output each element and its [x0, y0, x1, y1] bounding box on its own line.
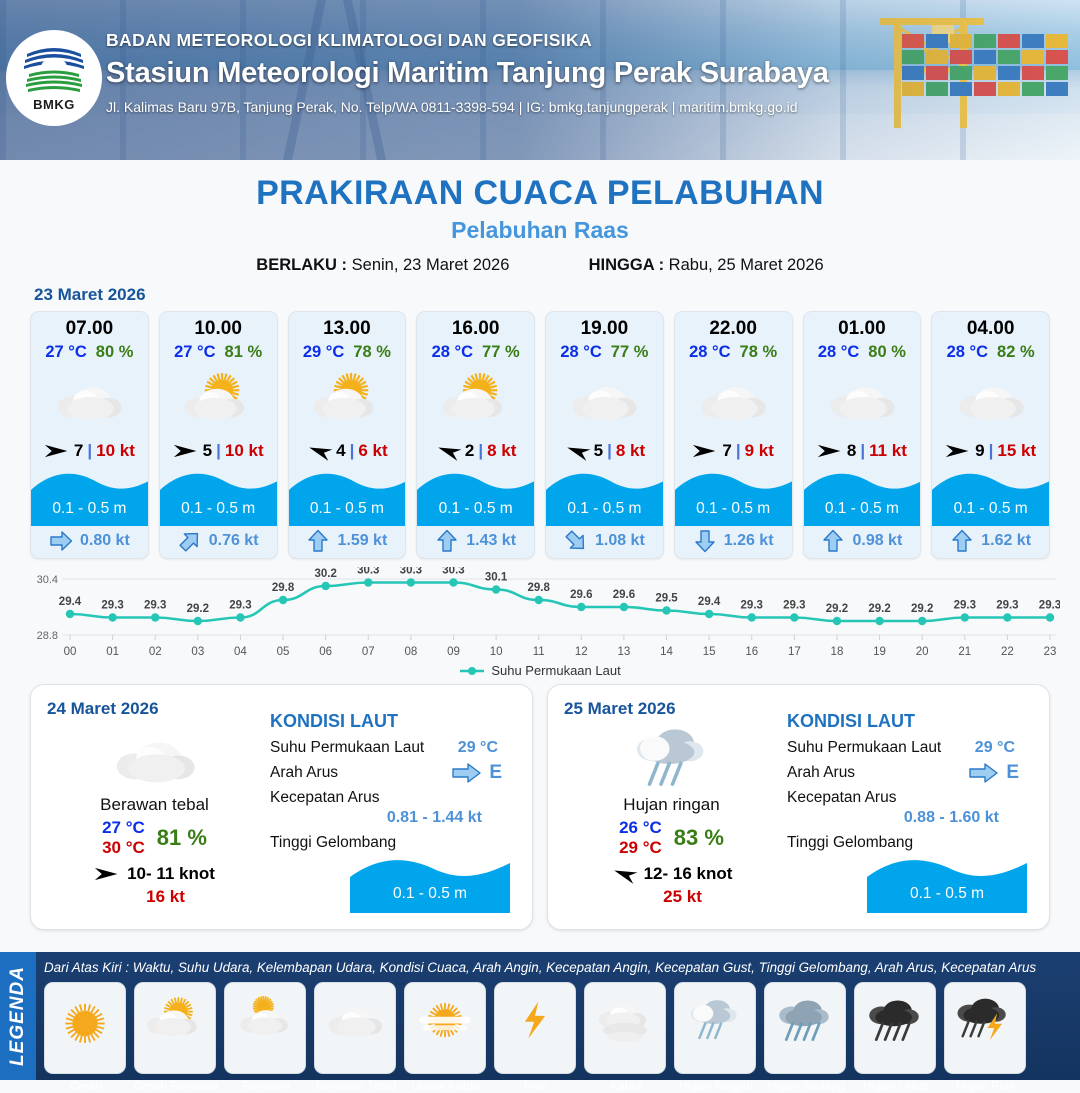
hourly-card[interactable]: 07.00 27 °C 80 % 7 | 10 kt 0.1 - 0.5 m	[30, 311, 149, 559]
daily-temp-max: 30 °C	[102, 838, 145, 858]
daily-forecast-panel[interactable]: 25 Maret 2026 Hujan ringan 26 °C 29 °C 8…	[547, 684, 1050, 930]
card-gust: 9 kt	[745, 441, 774, 461]
card-wave-block: 0.1 - 0.5 m	[932, 468, 1049, 526]
svg-text:01: 01	[106, 646, 119, 658]
card-time: 01.00	[804, 312, 921, 340]
svg-text:29.3: 29.3	[229, 600, 251, 612]
card-gust: 10 kt	[96, 441, 135, 461]
wind-direction-icon	[817, 442, 843, 460]
legend-item-label: Hujan Lebat	[849, 1079, 943, 1093]
card-weather-icon	[675, 362, 792, 434]
card-weather-icon	[289, 362, 406, 434]
daily-wave-block: 0.1 - 0.5 m	[867, 851, 1027, 913]
card-separator: |	[736, 441, 741, 461]
wind-direction-icon	[692, 442, 718, 460]
legend-item-icon	[234, 983, 296, 1053]
svg-text:29.4: 29.4	[698, 596, 721, 608]
card-current-speed: 1.08 kt	[595, 532, 645, 550]
card-wave-block: 0.1 - 0.5 m	[675, 468, 792, 526]
current-direction-value-group: E	[452, 762, 502, 784]
svg-text:12: 12	[575, 646, 588, 658]
card-wind-row: 5 | 10 kt	[160, 434, 277, 468]
hourly-card[interactable]: 13.00 29 °C 78 % 4 | 6 kt 0.1 - 0.5 m	[288, 311, 407, 559]
sst-chart-svg: 30.428.800010203040506070809101112131415…	[20, 567, 1060, 667]
card-wave-height: 0.1 - 0.5 m	[31, 500, 148, 518]
daily-date: 24 Maret 2026	[47, 699, 262, 719]
legend-section: LEGENDA Dari Atas Kiri : Waktu, Suhu Uda…	[0, 952, 1080, 1080]
card-wave-height: 0.1 - 0.5 m	[546, 500, 663, 518]
card-separator: |	[216, 441, 221, 461]
cerah-berawan-icon	[310, 368, 384, 429]
legend-item: Berawan Tebal	[314, 982, 396, 1074]
daily-wave-block: 0.1 - 0.5 m	[350, 851, 510, 913]
card-temp-humidity: 29 °C 78 %	[289, 343, 406, 362]
card-gust: 15 kt	[997, 441, 1036, 461]
berawan-icon	[234, 993, 296, 1044]
legend-item: Hujan Lebat	[854, 982, 936, 1074]
daily-temp-range: 27 °C 30 °C	[102, 818, 145, 857]
berawan-tebal-icon	[954, 368, 1028, 429]
hujan-petir-icon	[954, 993, 1016, 1044]
card-wave-block: 0.1 - 0.5 m	[417, 468, 534, 526]
card-wave-height: 0.1 - 0.5 m	[289, 500, 406, 518]
card-separator: |	[350, 441, 355, 461]
svg-text:30.2: 30.2	[314, 568, 336, 580]
sst-value: 29 °C	[458, 739, 498, 757]
card-wind-row: 5 | 8 kt	[546, 434, 663, 468]
down-right-arrow-icon	[559, 524, 593, 558]
card-separator: |	[478, 441, 483, 461]
page-title: PRAKIRAAN CUACA PELABUHAN	[0, 174, 1080, 213]
contact-info: Jl. Kalimas Baru 97B, Tanjung Perak, No.…	[106, 99, 1066, 115]
svg-text:20: 20	[916, 646, 929, 658]
card-temp-humidity: 28 °C 78 %	[675, 343, 792, 362]
svg-text:23: 23	[1044, 646, 1057, 658]
header-text-block: BADAN METEOROLOGI KLIMATOLOGI DAN GEOFIS…	[106, 30, 1066, 115]
svg-text:17: 17	[788, 646, 801, 658]
legend-item-icon	[954, 983, 1016, 1053]
current-speed-row: Kecepatan Arus 0.88 - 1.60 kt	[787, 789, 1033, 827]
svg-text:29.3: 29.3	[741, 600, 763, 612]
legend-item: Udara Kabur	[404, 982, 486, 1074]
sst-label: Suhu Permukaan Laut	[270, 739, 424, 756]
card-wind-direction: 5	[203, 441, 212, 461]
card-wind-direction: 4	[336, 441, 345, 461]
sst-chart: 30.428.800010203040506070809101112131415…	[0, 559, 1080, 678]
current-direction-row: Arah Arus E	[787, 764, 1033, 782]
card-humidity: 77 %	[611, 343, 649, 362]
svg-text:06: 06	[319, 646, 332, 658]
daily-condition: Berawan tebal	[47, 795, 262, 815]
card-time: 04.00	[932, 312, 1049, 340]
card-weather-icon	[546, 362, 663, 434]
legend-item: Petir	[494, 982, 576, 1074]
svg-text:29.3: 29.3	[101, 600, 123, 612]
card-weather-icon	[160, 362, 277, 434]
sst-row: Suhu Permukaan Laut 29 °C	[270, 739, 516, 757]
up-right-arrow-icon	[173, 524, 207, 558]
svg-text:09: 09	[447, 646, 460, 658]
wind-direction-icon	[173, 442, 199, 460]
legend-vertical-bar: LEGENDA	[0, 952, 36, 1080]
card-wave-block: 0.1 - 0.5 m	[289, 468, 406, 526]
card-current-row: 1.43 kt	[417, 526, 534, 556]
legend-item-label: Kabut	[579, 1079, 673, 1093]
svg-text:08: 08	[404, 646, 417, 658]
svg-text:29.3: 29.3	[144, 600, 166, 612]
legend-item-icon	[594, 983, 656, 1053]
card-wind-direction: 8	[847, 441, 856, 461]
svg-text:04: 04	[234, 646, 247, 658]
card-wave-height: 0.1 - 0.5 m	[932, 500, 1049, 518]
valid-to-label: HINGGA :	[589, 256, 664, 274]
svg-text:29.5: 29.5	[655, 593, 678, 605]
svg-text:05: 05	[277, 646, 290, 658]
legend-item: Hujan Petir	[944, 982, 1026, 1074]
legend-item: Cerah	[44, 982, 126, 1074]
card-humidity: 82 %	[997, 343, 1035, 362]
wind-direction-icon	[561, 438, 592, 464]
svg-text:29.2: 29.2	[826, 603, 848, 615]
card-time: 10.00	[160, 312, 277, 340]
card-wave-height: 0.1 - 0.5 m	[804, 500, 921, 518]
card-temperature: 27 °C	[45, 343, 86, 362]
daily-temps: 26 °C 29 °C 83 %	[564, 818, 779, 857]
sst-value: 29 °C	[975, 739, 1015, 757]
hourly-date-row: 23 Maret 2026	[0, 275, 1080, 309]
daily-temp-max: 29 °C	[619, 838, 662, 858]
svg-text:29.8: 29.8	[272, 582, 295, 594]
daily-left-column: 24 Maret 2026 Berawan tebal 27 °C 30 °C …	[47, 699, 262, 915]
legend-item-label: Berawan	[219, 1079, 313, 1093]
valid-from-value: Senin, 23 Maret 2026	[352, 256, 510, 274]
page-header: BMKG BADAN METEOROLOGI KLIMATOLOGI DAN G…	[0, 0, 1080, 160]
current-speed-value: 0.81 - 1.44 kt	[270, 809, 516, 827]
svg-text:22: 22	[1001, 646, 1014, 658]
current-speed-label: Kecepatan Arus	[270, 789, 379, 806]
card-temperature: 29 °C	[303, 343, 344, 362]
card-weather-icon	[804, 362, 921, 434]
wind-direction-icon	[608, 862, 639, 888]
legend-item: Kabut	[584, 982, 666, 1074]
card-gust: 8 kt	[616, 441, 645, 461]
card-current-speed: 1.59 kt	[337, 532, 387, 550]
daily-gust: 16 kt	[47, 887, 262, 907]
daily-forecast-panels: 24 Maret 2026 Berawan tebal 27 °C 30 °C …	[0, 678, 1080, 930]
hourly-card[interactable]: 04.00 28 °C 82 % 9 | 15 kt 0.1 - 0.5 m	[931, 311, 1050, 559]
svg-text:02: 02	[149, 646, 162, 658]
kabut-icon	[594, 993, 656, 1044]
up-arrow-icon	[950, 529, 974, 553]
card-temp-humidity: 28 °C 80 %	[804, 343, 921, 362]
wind-direction-icon	[94, 865, 120, 883]
card-gust: 10 kt	[225, 441, 264, 461]
card-current-speed: 0.80 kt	[80, 532, 130, 550]
right-arrow-icon	[452, 762, 482, 784]
current-direction-value: E	[1006, 762, 1019, 784]
svg-text:29.2: 29.2	[868, 603, 890, 615]
port-name: Pelabuhan Raas	[0, 217, 1080, 244]
legend-item-label: Hujan Ringan	[669, 1079, 763, 1093]
card-temp-humidity: 27 °C 81 %	[160, 343, 277, 362]
cerah-berawan-icon	[439, 368, 513, 429]
hourly-card[interactable]: 16.00 28 °C 77 % 2 | 8 kt 0.1 - 0.5 m	[416, 311, 535, 559]
wave-height-row: Tinggi Gelombang	[787, 834, 1033, 852]
svg-text:29.3: 29.3	[954, 600, 976, 612]
station-name: Stasiun Meteorologi Maritim Tanjung Pera…	[106, 57, 1066, 90]
udara-kabur-icon	[414, 993, 476, 1044]
legend-item: Hujan Ringan	[674, 982, 756, 1074]
sea-condition-title: KONDISI LAUT	[787, 711, 1033, 732]
up-arrow-icon	[435, 529, 459, 553]
valid-to-value: Rabu, 25 Maret 2026	[669, 256, 824, 274]
svg-text:14: 14	[660, 646, 673, 658]
hourly-card[interactable]: 19.00 28 °C 77 % 5 | 8 kt 0.1 - 0.5 m	[545, 311, 664, 559]
daily-weather-icon	[564, 721, 779, 791]
legend-item: Hujan Sedang	[764, 982, 846, 1074]
card-temp-humidity: 28 °C 77 %	[546, 343, 663, 362]
svg-text:00: 00	[64, 646, 77, 658]
bmkg-logo: BMKG	[6, 30, 102, 126]
hujan-lebat-icon	[864, 993, 926, 1044]
right-arrow-icon	[969, 762, 999, 784]
hujan-ringan-icon	[684, 993, 746, 1044]
daily-humidity: 83 %	[674, 825, 724, 851]
bmkg-logo-text: BMKG	[33, 97, 75, 112]
card-weather-icon	[932, 362, 1049, 434]
hourly-card[interactable]: 22.00 28 °C 78 % 7 | 9 kt 0.1 - 0.5 m	[674, 311, 793, 559]
svg-text:30.3: 30.3	[357, 567, 379, 577]
current-speed-value: 0.88 - 1.60 kt	[787, 809, 1033, 827]
card-wave-block: 0.1 - 0.5 m	[160, 468, 277, 526]
card-temp-humidity: 28 °C 82 %	[932, 343, 1049, 362]
card-temperature: 27 °C	[174, 343, 215, 362]
card-current-row: 0.80 kt	[31, 526, 148, 556]
cerah-berawan-icon	[144, 993, 206, 1044]
legend-item-icon	[324, 983, 386, 1053]
sst-label: Suhu Permukaan Laut	[787, 739, 941, 756]
card-current-speed: 1.26 kt	[724, 532, 774, 550]
svg-text:28.8: 28.8	[37, 630, 58, 642]
card-weather-icon	[31, 362, 148, 434]
card-current-row: 1.26 kt	[675, 526, 792, 556]
legend-vertical-title: LEGENDA	[7, 966, 29, 1066]
card-wave-height: 0.1 - 0.5 m	[675, 500, 792, 518]
card-weather-icon	[417, 362, 534, 434]
wind-direction-icon	[433, 438, 464, 464]
svg-text:18: 18	[831, 646, 844, 658]
svg-text:29.3: 29.3	[1039, 600, 1060, 612]
legend-item-label: Cerah Berawan	[129, 1079, 223, 1093]
svg-text:29.3: 29.3	[996, 600, 1018, 612]
wave-shape-icon	[350, 851, 510, 913]
card-humidity: 77 %	[482, 343, 520, 362]
svg-text:19: 19	[873, 646, 886, 658]
legend-item-icon	[684, 983, 746, 1053]
legend-item-label: Petir	[489, 1079, 583, 1093]
daily-gust: 25 kt	[564, 887, 779, 907]
legend-item-label: Hujan Petir	[939, 1079, 1033, 1093]
title-section: PRAKIRAAN CUACA PELABUHAN Pelabuhan Raas…	[0, 160, 1080, 275]
berawan-tebal-icon	[324, 993, 386, 1044]
daily-wave-value: 0.1 - 0.5 m	[350, 885, 510, 903]
svg-text:29.4: 29.4	[59, 596, 82, 608]
card-separator: |	[860, 441, 865, 461]
current-direction-value: E	[489, 762, 502, 784]
hourly-forecast-cards: 07.00 27 °C 80 % 7 | 10 kt 0.1 - 0.5 m	[0, 309, 1080, 559]
svg-text:29.2: 29.2	[911, 603, 933, 615]
card-temperature: 28 °C	[432, 343, 473, 362]
card-gust: 8 kt	[487, 441, 516, 461]
berawan-tebal-icon	[567, 368, 641, 429]
cerah-icon	[54, 993, 116, 1044]
daily-temp-range: 26 °C 29 °C	[619, 818, 662, 857]
hujan-sedang-icon	[774, 993, 836, 1044]
wave-shape-icon	[867, 851, 1027, 913]
svg-text:11: 11	[533, 646, 545, 658]
current-direction-row: Arah Arus E	[270, 764, 516, 782]
card-current-row: 0.76 kt	[160, 526, 277, 556]
card-temp-humidity: 27 °C 80 %	[31, 343, 148, 362]
wind-direction-icon	[945, 442, 971, 460]
card-wind-row: 8 | 11 kt	[804, 434, 921, 468]
card-wind-direction: 7	[74, 441, 83, 461]
card-wave-block: 0.1 - 0.5 m	[31, 468, 148, 526]
sst-row: Suhu Permukaan Laut 29 °C	[787, 739, 1033, 757]
up-arrow-icon	[306, 529, 330, 553]
petir-icon	[504, 993, 566, 1044]
daily-forecast-panel[interactable]: 24 Maret 2026 Berawan tebal 27 °C 30 °C …	[30, 684, 533, 930]
berawan-tebal-icon	[825, 368, 899, 429]
down-arrow-icon	[693, 529, 717, 553]
card-current-row: 0.98 kt	[804, 526, 921, 556]
legend-items-row: Cerah Cerah Berawan Berawan Berawan Teba…	[44, 982, 1074, 1076]
svg-text:30.1: 30.1	[485, 572, 508, 584]
svg-text:07: 07	[362, 646, 375, 658]
berawan-tebal-icon	[52, 368, 126, 429]
wave-height-label: Tinggi Gelombang	[787, 834, 913, 851]
svg-text:21: 21	[958, 646, 971, 658]
berawan-tebal-icon	[696, 368, 770, 429]
daily-wind-row: 10- 11 knot	[47, 864, 262, 884]
daily-humidity: 81 %	[157, 825, 207, 851]
daily-wind-speed: 10- 11 knot	[127, 864, 215, 884]
wave-height-label: Tinggi Gelombang	[270, 834, 396, 851]
card-wind-direction: 7	[722, 441, 731, 461]
card-wind-direction: 5	[594, 441, 603, 461]
card-humidity: 78 %	[353, 343, 391, 362]
chart-legend-label: Suhu Permukaan Laut	[491, 663, 620, 678]
valid-from-label: BERLAKU :	[256, 256, 347, 274]
card-separator: |	[989, 441, 994, 461]
card-wind-row: 4 | 6 kt	[289, 434, 406, 468]
svg-text:30.3: 30.3	[400, 567, 422, 577]
card-time: 07.00	[31, 312, 148, 340]
daily-sea-column: KONDISI LAUT Suhu Permukaan Laut 29 °C A…	[262, 699, 516, 915]
up-arrow-icon	[821, 529, 845, 553]
legend-item: Cerah Berawan	[134, 982, 216, 1074]
daily-date: 25 Maret 2026	[564, 699, 779, 719]
wave-height-row: Tinggi Gelombang	[270, 834, 516, 852]
daily-wind-row: 12- 16 knot	[564, 864, 779, 884]
legend-item-label: Berawan Tebal	[309, 1079, 403, 1093]
legend-item-icon	[864, 983, 926, 1053]
card-wind-direction: 2	[465, 441, 474, 461]
legend-item-icon	[504, 983, 566, 1053]
daily-wave-value: 0.1 - 0.5 m	[867, 885, 1027, 903]
card-wave-block: 0.1 - 0.5 m	[546, 468, 663, 526]
current-direction-value-group: E	[969, 762, 1019, 784]
card-temperature: 28 °C	[947, 343, 988, 362]
svg-text:29.6: 29.6	[570, 589, 592, 601]
svg-text:29.8: 29.8	[528, 582, 551, 594]
card-wave-height: 0.1 - 0.5 m	[417, 500, 534, 518]
card-humidity: 80 %	[96, 343, 134, 362]
legend-item-label: Cerah	[39, 1079, 133, 1093]
svg-text:30.4: 30.4	[37, 574, 58, 586]
card-separator: |	[607, 441, 612, 461]
daily-condition: Hujan ringan	[564, 795, 779, 815]
card-wind-row: 7 | 9 kt	[675, 434, 792, 468]
card-time: 19.00	[546, 312, 663, 340]
daily-sea-column: KONDISI LAUT Suhu Permukaan Laut 29 °C A…	[779, 699, 1033, 915]
card-temperature: 28 °C	[818, 343, 859, 362]
current-direction-label: Arah Arus	[787, 764, 855, 781]
legend-item: Berawan	[224, 982, 306, 1074]
card-humidity: 81 %	[225, 343, 263, 362]
daily-left-column: 25 Maret 2026 Hujan ringan 26 °C 29 °C 8…	[564, 699, 779, 915]
svg-text:13: 13	[618, 646, 631, 658]
card-current-speed: 1.62 kt	[981, 532, 1031, 550]
card-temperature: 28 °C	[689, 343, 730, 362]
hujan-ringan-icon	[627, 719, 717, 793]
card-current-speed: 0.76 kt	[209, 532, 259, 550]
hourly-card[interactable]: 10.00 27 °C 81 % 5 | 10 kt 0.1 - 0.5 m	[159, 311, 278, 559]
current-speed-label: Kecepatan Arus	[787, 789, 896, 806]
card-temp-humidity: 28 °C 77 %	[417, 343, 534, 362]
cerah-berawan-icon	[181, 368, 255, 429]
hourly-card[interactable]: 01.00 28 °C 80 % 8 | 11 kt 0.1 - 0.5 m	[803, 311, 922, 559]
hourly-date-label: 23 Maret 2026	[34, 285, 146, 304]
svg-text:30.3: 30.3	[442, 567, 464, 577]
current-direction-label: Arah Arus	[270, 764, 338, 781]
legend-item-icon	[54, 983, 116, 1053]
validity-row: BERLAKU : Senin, 23 Maret 2026 HINGGA : …	[0, 256, 1080, 275]
card-separator: |	[87, 441, 92, 461]
daily-temp-min: 26 °C	[619, 818, 662, 838]
card-wave-height: 0.1 - 0.5 m	[160, 500, 277, 518]
right-arrow-icon	[49, 529, 73, 553]
card-current-row: 1.08 kt	[546, 526, 663, 556]
svg-text:29.3: 29.3	[783, 600, 805, 612]
svg-text:03: 03	[191, 646, 204, 658]
agency-name: BADAN METEOROLOGI KLIMATOLOGI DAN GEOFIS…	[106, 30, 1066, 51]
daily-temps: 27 °C 30 °C 81 %	[47, 818, 262, 857]
card-current-speed: 1.43 kt	[466, 532, 516, 550]
legend-item-icon	[414, 983, 476, 1053]
svg-text:29.6: 29.6	[613, 589, 635, 601]
card-wind-row: 2 | 8 kt	[417, 434, 534, 468]
chart-legend: Suhu Permukaan Laut	[20, 663, 1060, 678]
legend-item-label: Udara Kabur	[399, 1079, 493, 1093]
card-time: 22.00	[675, 312, 792, 340]
card-humidity: 78 %	[740, 343, 778, 362]
legend-item-icon	[774, 983, 836, 1053]
card-current-speed: 0.98 kt	[852, 532, 902, 550]
daily-temp-min: 27 °C	[102, 818, 145, 838]
card-time: 13.00	[289, 312, 406, 340]
daily-wind-speed: 12- 16 knot	[644, 864, 733, 884]
